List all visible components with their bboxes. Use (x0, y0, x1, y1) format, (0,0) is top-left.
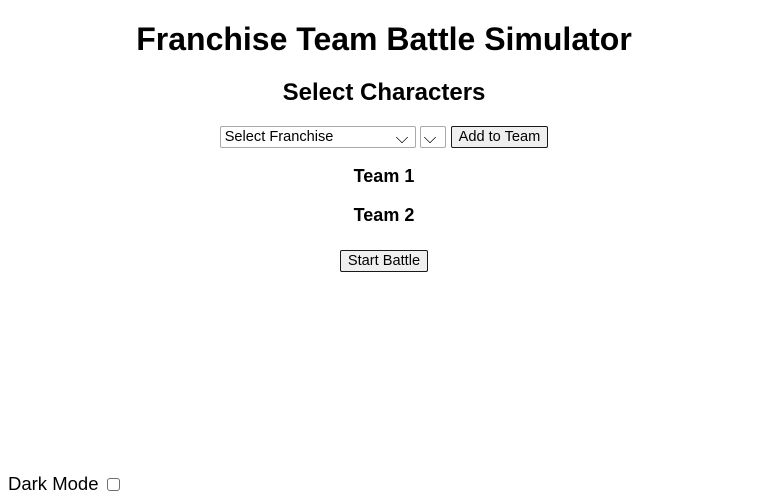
character-select[interactable] (420, 126, 446, 148)
dark-mode-label: Dark Mode (8, 475, 98, 494)
teams-area: Team 1 Team 2 (0, 166, 768, 225)
add-to-team-button[interactable]: Add to Team (451, 126, 549, 148)
dark-mode-toggle[interactable]: Dark Mode (8, 475, 120, 494)
character-selection-controls: Select Franchise Add to Team (0, 126, 768, 148)
page-title: Franchise Team Battle Simulator (0, 21, 768, 58)
dark-mode-checkbox[interactable] (107, 478, 120, 491)
start-battle-row: Start Battle (0, 250, 768, 272)
team-2-heading: Team 2 (0, 205, 768, 226)
start-battle-button[interactable]: Start Battle (340, 250, 428, 272)
select-characters-heading: Select Characters (0, 79, 768, 107)
franchise-select[interactable]: Select Franchise (220, 126, 416, 148)
team-1-heading: Team 1 (0, 166, 768, 187)
